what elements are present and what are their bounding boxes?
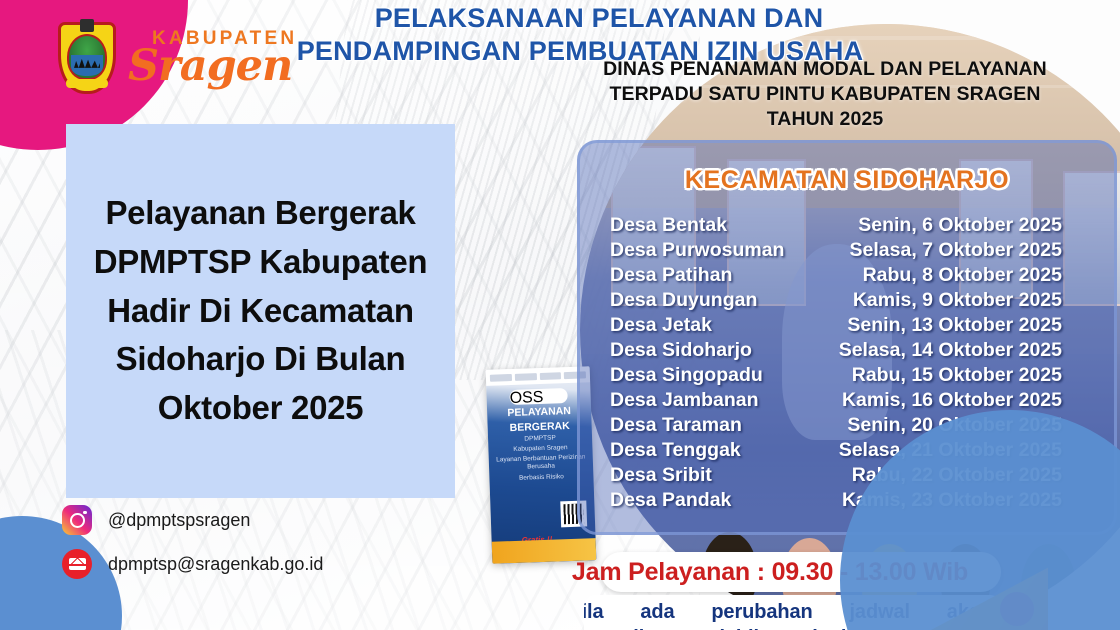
schedule-village: Desa Taraman xyxy=(610,413,742,438)
poster-header-line1: PELAKSANAAN PELAYANAN DAN xyxy=(78,2,1120,35)
headline-text: Pelayanan Bergerak DPMPTSP Kabupaten Had… xyxy=(66,189,455,433)
poster-subheader-line2: TERPADU SATU PINTU KABUPATEN SRAGEN xyxy=(600,82,1050,107)
instagram-handle: @dpmptspsragen xyxy=(108,510,250,531)
schedule-date: Rabu, 8 Oktober 2025 xyxy=(863,263,1062,288)
poster-subheader-line1: DINAS PENANAMAN MODAL DAN PELAYANAN xyxy=(600,57,1050,82)
schedule-village: Desa Jetak xyxy=(610,313,712,338)
poster-subheader: DINAS PENANAMAN MODAL DAN PELAYANAN TERP… xyxy=(600,57,1050,132)
schedule-date: Kamis, 9 Oktober 2025 xyxy=(853,288,1062,313)
contact-list: @dpmptspsragen dpmptsp@sragenkab.go.id xyxy=(62,505,323,579)
schedule-row: Desa BentakSenin, 6 Oktober 2025 xyxy=(610,213,1062,238)
schedule-date: Selasa, 7 Oktober 2025 xyxy=(850,238,1062,263)
schedule-row: Desa PatihanRabu, 8 Oktober 2025 xyxy=(610,263,1062,288)
oss-logo: OSS xyxy=(509,388,567,405)
schedule-row: Desa PurwosumanSelasa, 7 Oktober 2025 xyxy=(610,238,1062,263)
schedule-village: Desa Bentak xyxy=(610,213,727,238)
instagram-icon xyxy=(62,505,92,535)
schedule-title: KECAMATAN SIDOHARJO xyxy=(577,166,1117,195)
schedule-date: Rabu, 15 Oktober 2025 xyxy=(852,363,1062,388)
contact-item-email[interactable]: dpmptsp@sragenkab.go.id xyxy=(62,549,323,579)
schedule-date: Senin, 6 Oktober 2025 xyxy=(858,213,1062,238)
schedule-village: Desa Pandak xyxy=(610,488,731,513)
poster-subheader-line3: TAHUN 2025 xyxy=(600,107,1050,132)
email-icon xyxy=(62,549,92,579)
headline-panel: Pelayanan Bergerak DPMPTSP Kabupaten Had… xyxy=(66,124,455,498)
schedule-village: Desa Purwosuman xyxy=(610,238,784,263)
email-address: dpmptsp@sragenkab.go.id xyxy=(108,554,323,575)
schedule-row: Desa SingopaduRabu, 15 Oktober 2025 xyxy=(610,363,1062,388)
schedule-row: Desa DuyunganKamis, 9 Oktober 2025 xyxy=(610,288,1062,313)
poster-canvas: KABUPATEN Sragen Pelayanan Bergerak DPMP… xyxy=(0,0,1120,630)
schedule-village: Desa Patihan xyxy=(610,263,732,288)
schedule-row: Desa JetakSenin, 13 Oktober 2025 xyxy=(610,313,1062,338)
schedule-date: Selasa, 14 Oktober 2025 xyxy=(839,338,1062,363)
rollup-title-1: PELAYANAN xyxy=(487,405,591,420)
schedule-row: Desa SidoharjoSelasa, 14 Oktober 2025 xyxy=(610,338,1062,363)
schedule-village: Desa Singopadu xyxy=(610,363,763,388)
schedule-village: Desa Jambanan xyxy=(610,388,759,413)
schedule-village: Desa Sidoharjo xyxy=(610,338,752,363)
schedule-row: Desa JambananKamis, 16 Oktober 2025 xyxy=(610,388,1062,413)
schedule-date: Kamis, 16 Oktober 2025 xyxy=(842,388,1062,413)
schedule-village: Desa Sribit xyxy=(610,463,712,488)
contact-item-instagram[interactable]: @dpmptspsragen xyxy=(62,505,323,535)
schedule-village: Desa Tenggak xyxy=(610,438,741,463)
schedule-village: Desa Duyungan xyxy=(610,288,757,313)
schedule-date: Senin, 13 Oktober 2025 xyxy=(847,313,1062,338)
